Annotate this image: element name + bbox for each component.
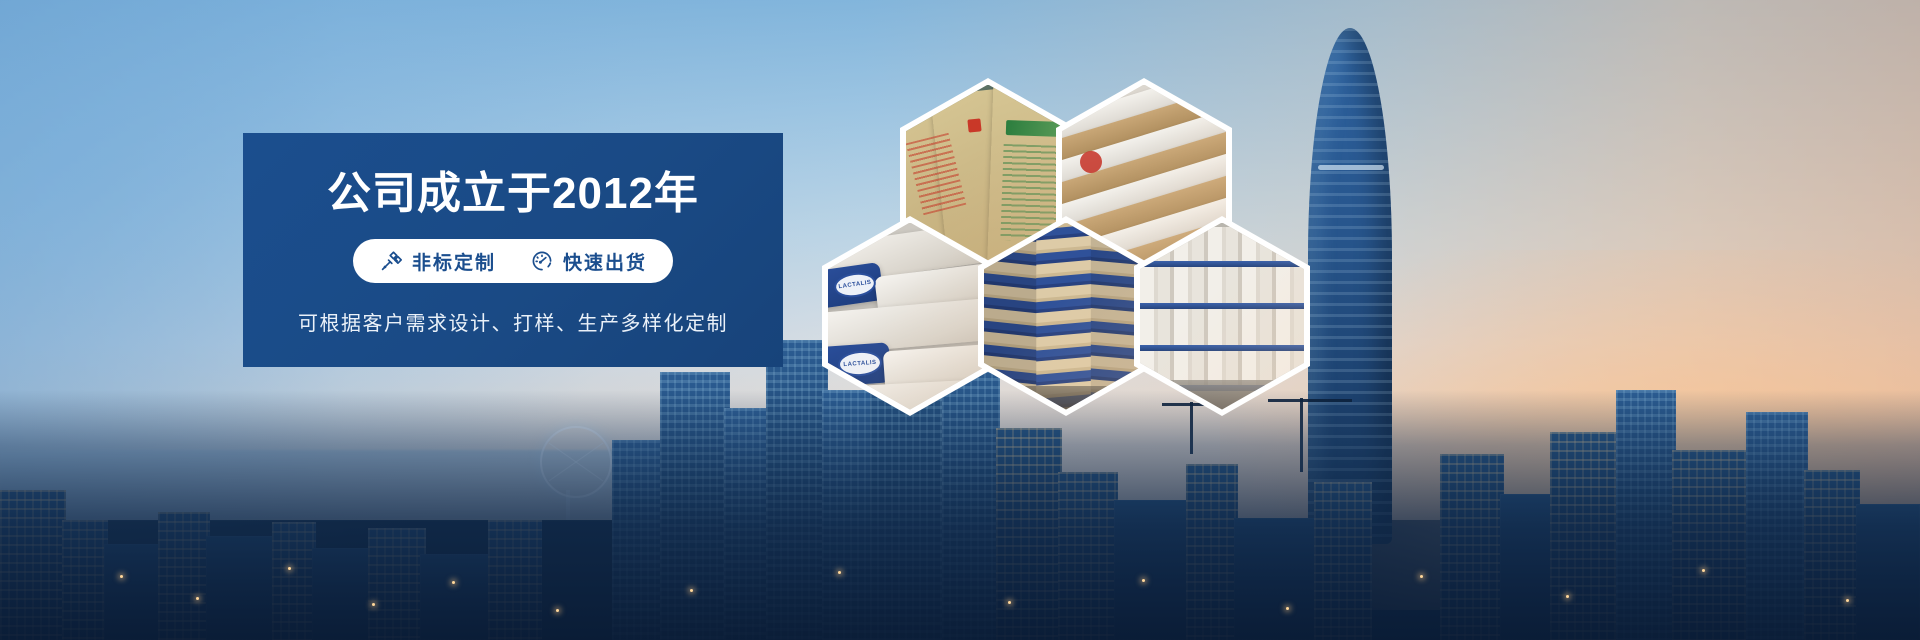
feature-badge-fast-shipping[interactable]: 快速出货 (530, 248, 647, 275)
feature-badge-group: 非标定制 快速出货 (353, 239, 673, 283)
street-light (1142, 579, 1145, 582)
street-light (196, 597, 199, 600)
feature-badge-fast-shipping-label: 快速出货 (563, 248, 647, 275)
hex-photo (984, 223, 1148, 410)
street-light (1420, 575, 1423, 578)
promo-text-panel: 公司成立于2012年 非标定制 (243, 133, 783, 367)
street-light (1566, 595, 1569, 598)
speed-gauge-icon (530, 249, 554, 273)
street-light (1286, 607, 1289, 610)
photo-warehouse-racking-bags (1140, 223, 1304, 410)
feature-badge-custom-label: 非标定制 (412, 248, 496, 275)
street-light (288, 567, 291, 570)
street-light (372, 603, 375, 606)
street-light (838, 571, 841, 574)
street-light (556, 609, 559, 612)
hex-photo (1140, 223, 1304, 410)
page-subtitle: 可根据客户需求设计、打样、生产多样化定制 (298, 307, 728, 336)
feature-badge-custom[interactable]: 非标定制 (379, 248, 496, 275)
photo-palletised-bag-stacks (984, 223, 1148, 410)
street-light (1008, 601, 1011, 604)
page-title: 公司成立于2012年 (327, 171, 699, 217)
product-hexagon-gallery: LACTALIS LACTALIS (790, 78, 1350, 438)
street-light (120, 575, 123, 578)
street-light (690, 589, 693, 592)
drafting-pen-icon (379, 249, 403, 273)
street-light (1702, 569, 1705, 572)
street-light (1846, 599, 1849, 602)
photo-lactalis-branded-bags: LACTALIS LACTALIS (828, 223, 992, 410)
street-light (452, 581, 455, 584)
hero-banner: LACTALIS LACTALIS (0, 0, 1920, 640)
hex-photo: LACTALIS LACTALIS (828, 223, 992, 410)
